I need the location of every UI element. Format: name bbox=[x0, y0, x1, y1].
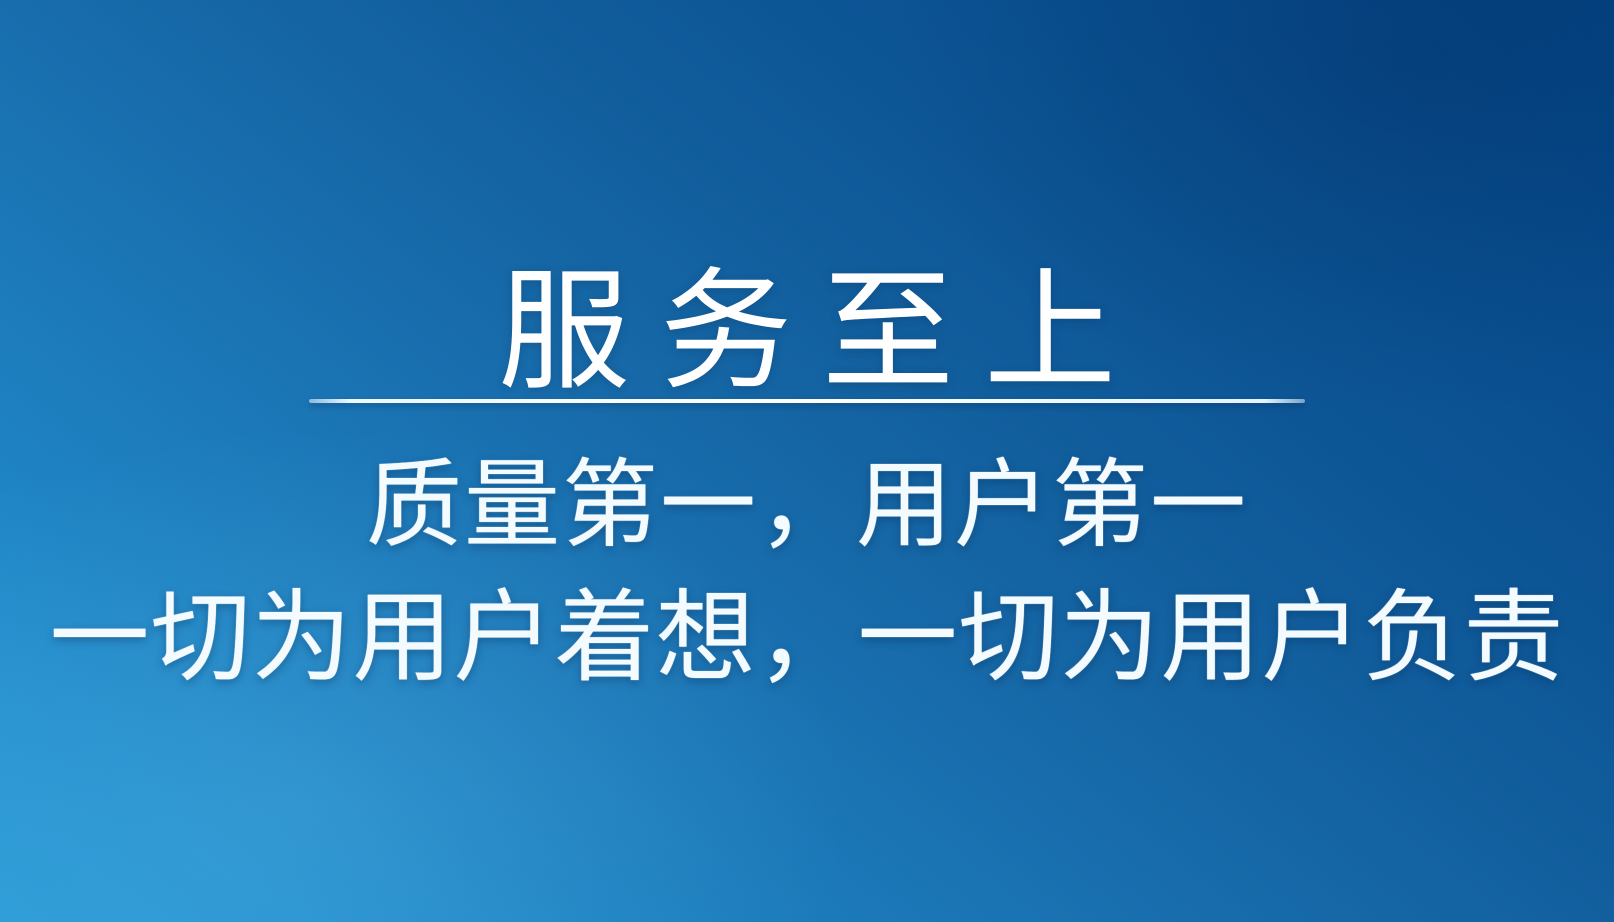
divider-container bbox=[0, 399, 1614, 403]
horizontal-rule-divider bbox=[309, 399, 1305, 403]
banner-canvas: 服务至上 质量第一，用户第一 一切为用户着想，一切为用户负责 bbox=[0, 0, 1614, 922]
banner-title: 服务至上 bbox=[0, 266, 1614, 398]
subtitle-line-1: 质量第一，用户第一 bbox=[0, 447, 1614, 565]
banner-content: 服务至上 质量第一，用户第一 一切为用户着想，一切为用户负责 bbox=[0, 0, 1614, 922]
banner-subtitle: 质量第一，用户第一 一切为用户着想，一切为用户负责 bbox=[0, 447, 1614, 699]
subtitle-line-2: 一切为用户着想，一切为用户负责 bbox=[0, 577, 1614, 699]
